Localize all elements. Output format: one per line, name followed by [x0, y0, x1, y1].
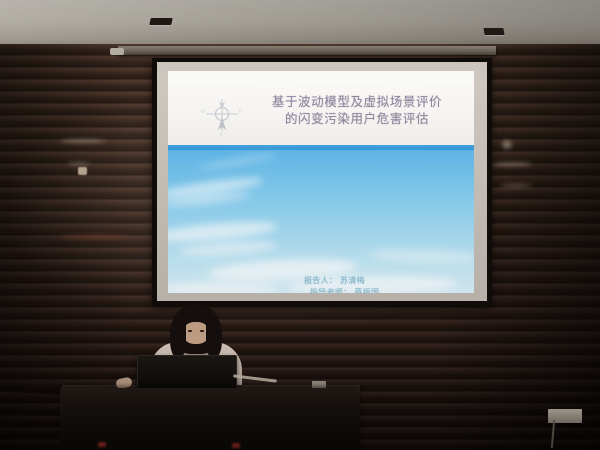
slide-title: 基于波动模型及虚拟场景评价 的闪变污染用户危害评估 — [244, 93, 470, 127]
compass-east-label: E — [239, 109, 242, 114]
wall-glare — [60, 234, 130, 239]
slide-title-band: W E S 基于波动模型及虚拟场景评价 的闪变污染用户危害评估 — [168, 71, 474, 145]
meta-presenter: 报告人： 苏清梅 — [304, 275, 472, 287]
wall-glare — [500, 184, 532, 187]
wall-glare — [492, 162, 532, 166]
cloud — [198, 151, 278, 172]
slide-title-line-2: 的闪变污染用户危害评估 — [244, 110, 470, 127]
indicator-light — [98, 442, 106, 447]
slide-presenter-info: 报告人： 苏清梅 指导老师： 蔡振国 专业： 电力系统及其自动化 日期： 201… — [304, 275, 472, 293]
slide-title-line-1: 基于波动模型及虚拟场景评价 — [272, 94, 442, 109]
cloud — [168, 282, 278, 293]
ceiling-vent-icon — [149, 18, 172, 25]
ceiling — [0, 0, 600, 48]
indicator-light — [232, 443, 240, 448]
wall-glare — [68, 162, 90, 165]
screen-surface: W E S 基于波动模型及虚拟场景评价 的闪变污染用户危害评估 — [157, 62, 487, 301]
meta-advisor: 指导老师： 蔡振国 — [304, 287, 472, 294]
compass-west-label: W — [201, 109, 205, 114]
ceiling-texture — [0, 0, 600, 48]
cloud — [178, 239, 279, 259]
presentation-slide: W E S 基于波动模型及虚拟场景评价 的闪变污染用户危害评估 — [168, 71, 474, 293]
compass-south-label: S — [220, 132, 223, 137]
projection-screen: W E S 基于波动模型及虚拟场景评价 的闪变污染用户危害评估 — [152, 58, 492, 306]
screen-roller-cap — [110, 48, 124, 55]
presenter-eye — [188, 330, 192, 332]
slide-sky-image: 报告人： 苏清梅 指导老师： 蔡振国 专业： 电力系统及其自动化 日期： 201… — [168, 150, 474, 293]
presenter-eye — [200, 330, 204, 332]
ceiling-vent-icon — [483, 28, 504, 35]
compass-rose-icon: W E S — [200, 97, 244, 137]
wall-glare — [60, 139, 106, 143]
presenter-hair-left — [170, 318, 186, 358]
wall-fixture — [78, 167, 87, 175]
wall-glare — [502, 140, 512, 149]
lecture-hall-photo: W E S 基于波动模型及虚拟场景评价 的闪变污染用户危害评估 — [0, 0, 600, 450]
presenter-hair-right — [206, 318, 222, 358]
podium — [60, 388, 360, 450]
screen-roller-housing — [118, 46, 496, 55]
cloud — [368, 248, 474, 264]
